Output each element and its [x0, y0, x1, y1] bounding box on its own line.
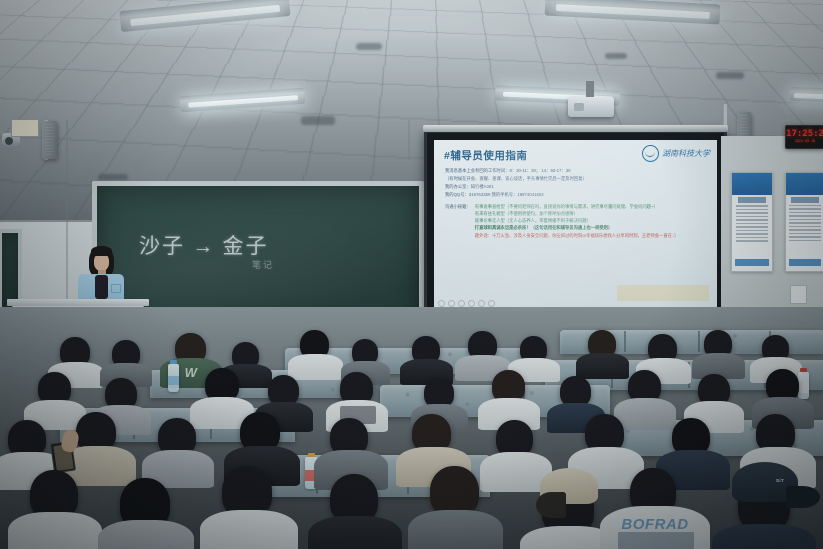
audience-shoulders: [200, 510, 298, 549]
poster-footer: [735, 259, 769, 266]
university-logo-text: 湖南科技大学: [662, 148, 710, 159]
ceiling-stain: [356, 43, 382, 50]
presentation-slide: 湖南科技大学 #辅导员使用指南 我消息基本上会秒回的工作时间：8：30-11：3…: [434, 140, 717, 311]
ceiling-light: [790, 87, 823, 103]
slide-tips: 沟通小秘籍： 有事说事直给型（不要问老师在吗，直接说你的事情与需求，讲完事尽量问…: [445, 204, 709, 239]
poster-text-lines: [736, 205, 769, 242]
slide-highlight-box: [617, 285, 709, 301]
projection-screen: 湖南科技大学 #辅导员使用指南 我消息基本上会秒回的工作时间：8：30-11：3…: [424, 130, 727, 321]
mountain-circle-logo-icon: [642, 145, 659, 162]
water-bottle: [798, 372, 809, 399]
poster-footer: [789, 259, 821, 266]
ppt-pen-icon[interactable]: [438, 300, 445, 307]
shirt-graphic-text: W: [178, 364, 204, 380]
ceiling-projector: [568, 97, 614, 117]
lecture-hall-photo: 沙子 → 金子 笔记 湖南科技大学 #辅导员使用指南 我消息基本上会秒回的工作时…: [0, 0, 823, 549]
slide-tip: 有事说事直给型（不要问老师在吗，直接说你的事情与需求，讲完事尽量问处理、学会问问…: [475, 204, 679, 210]
slide-tip: 有来有往礼貌型（不使用祈使句，加个称呼加点感情）: [475, 211, 679, 217]
ppt-more-icon[interactable]: [488, 300, 495, 307]
slide-tip: 题外话：十万火急、涉及人身安全问题，你压抑过的时刻or幸福快乐想找人分享的时刻，…: [475, 233, 679, 239]
cap-logo-text: SiT: [776, 478, 784, 483]
blackboard-signature: 笔记: [252, 258, 274, 271]
cap-brim: [786, 486, 820, 508]
wall-notice-box: [11, 119, 39, 137]
wall-poster: [731, 172, 773, 272]
ppt-menu-icon[interactable]: [468, 300, 475, 307]
slide-body-line: 我消息基本上会秒回的工作时间：8：30-11：30； 14：50-17：30: [445, 167, 709, 175]
water-bottle: [168, 364, 179, 392]
poster-text-lines: [789, 205, 820, 242]
ceiling-stain: [301, 116, 335, 125]
presentation-control-bar[interactable]: [438, 300, 495, 307]
slide-body-line: 我的QQ号：316763359 我的手机号：18874041602: [445, 191, 709, 199]
audience-shoulders: [576, 353, 629, 379]
poster-header: [786, 173, 823, 195]
wall-speaker-left: [42, 121, 57, 159]
ceiling-stain: [605, 53, 627, 59]
clock-date: 2024-09-18: [795, 140, 815, 143]
screen-roller: [423, 125, 728, 132]
audience-shoulders: [288, 354, 343, 380]
ceiling-stain: [716, 72, 744, 79]
presenter-fringe: [91, 246, 112, 256]
ppt-zoom-icon[interactable]: [478, 300, 485, 307]
blackboard-main-text: 沙子 → 金子: [139, 230, 269, 260]
wall-seam: [408, 120, 410, 160]
slide-tip: 打直球和真诚永远是必杀技！（这句话用在和辅导员沟通上也一样受用）: [475, 225, 679, 231]
slide-tips-label: 沟通小秘籍：: [445, 204, 471, 239]
ppt-prev-icon[interactable]: [448, 300, 455, 307]
audience-shoulders: [614, 398, 676, 430]
wall-poster: [785, 172, 823, 272]
poster-title-bar: [738, 197, 767, 203]
slide-body-line: （有时候在开会、查寝、查课、谈心谈话，手头事情忙完后一定及时回复）: [445, 175, 709, 183]
podium-top-surface: [7, 299, 149, 306]
shirt-graphic-image: [618, 532, 694, 549]
presenter-inner-top: [95, 275, 108, 299]
slide-tip: 就事论事无人型（无人心态养人，带着情绪不利于解决问题）: [475, 218, 679, 224]
poster-title-bar: [791, 197, 818, 203]
shirt-graphic-text: BOFRAD: [612, 514, 698, 534]
audience-shoulders: [8, 512, 102, 549]
audience-shoulders: [712, 524, 816, 549]
wall-small-plate: [790, 285, 807, 304]
audience-shoulders: [308, 516, 402, 549]
cap-brim: [536, 492, 566, 518]
ppt-next-icon[interactable]: [458, 300, 465, 307]
audience-shoulders: [98, 520, 194, 549]
led-clock: 17:25:2 2024-09-18: [785, 125, 823, 149]
audience-shoulders: [408, 510, 503, 549]
ceiling-stain: [98, 174, 128, 180]
presenter-shirt-pocket: [111, 284, 121, 293]
poster-header: [732, 173, 772, 195]
university-logo: 湖南科技大学: [642, 145, 710, 162]
clock-time: 17:25:2: [786, 130, 823, 139]
screen-surface: 湖南科技大学 #辅导员使用指南 我消息基本上会秒回的工作时间：8：30-11：3…: [434, 140, 717, 311]
slide-body-line: 我的办公室：知行楼A301: [445, 183, 709, 191]
slide-body: 我消息基本上会秒回的工作时间：8：30-11：30； 14：50-17：30 （…: [445, 167, 709, 199]
